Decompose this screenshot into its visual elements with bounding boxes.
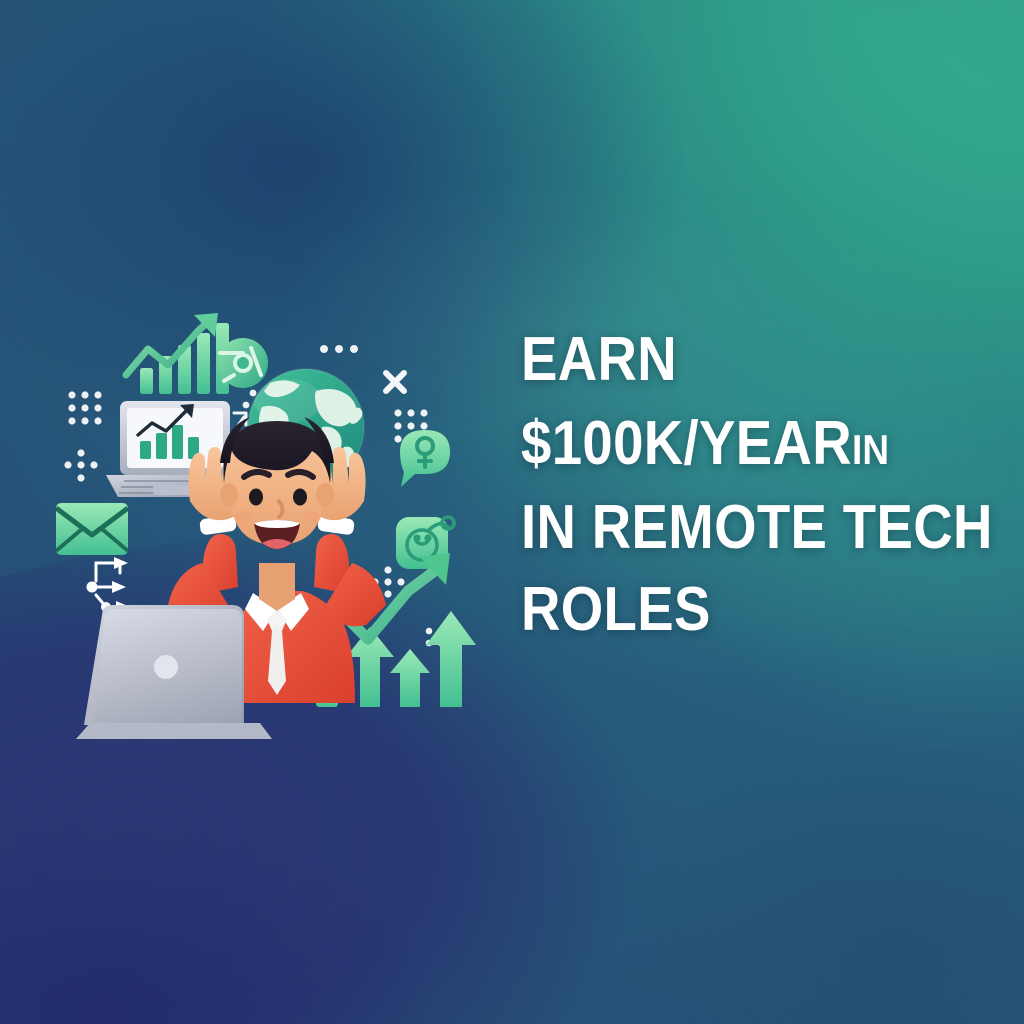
dot-row-icon-top: [320, 345, 358, 353]
poster-canvas: EARN $100K/YEARIN IN REMOTE TECH ROLES: [0, 0, 1024, 1024]
headline-amount: $100K/YEAR: [521, 409, 852, 478]
speech-bubble-icon: [400, 430, 450, 487]
bar-chart-growth-icon: [126, 313, 229, 394]
headline-line-2-small: IN: [852, 426, 889, 473]
laptop-closed-icon: [76, 605, 272, 739]
dot-plus-icon-left: [64, 449, 97, 481]
headline-line-3: IN REMOTE TECH: [521, 497, 935, 559]
cross-icon: [386, 373, 404, 391]
headline-line-4: ROLES: [521, 579, 935, 641]
headline-block: EARN $100K/YEARIN IN REMOTE TECH ROLES: [521, 329, 991, 641]
envelope-icon: [56, 503, 128, 555]
headline-line-2: $100K/YEARIN: [521, 413, 935, 475]
hero-illustration: [48, 305, 498, 755]
browser-chrome-icon: [218, 338, 268, 388]
headline-line-1: EARN: [521, 329, 935, 391]
flowchart-arrows-icon: [87, 557, 131, 613]
dot-grid-icon: [68, 391, 101, 424]
